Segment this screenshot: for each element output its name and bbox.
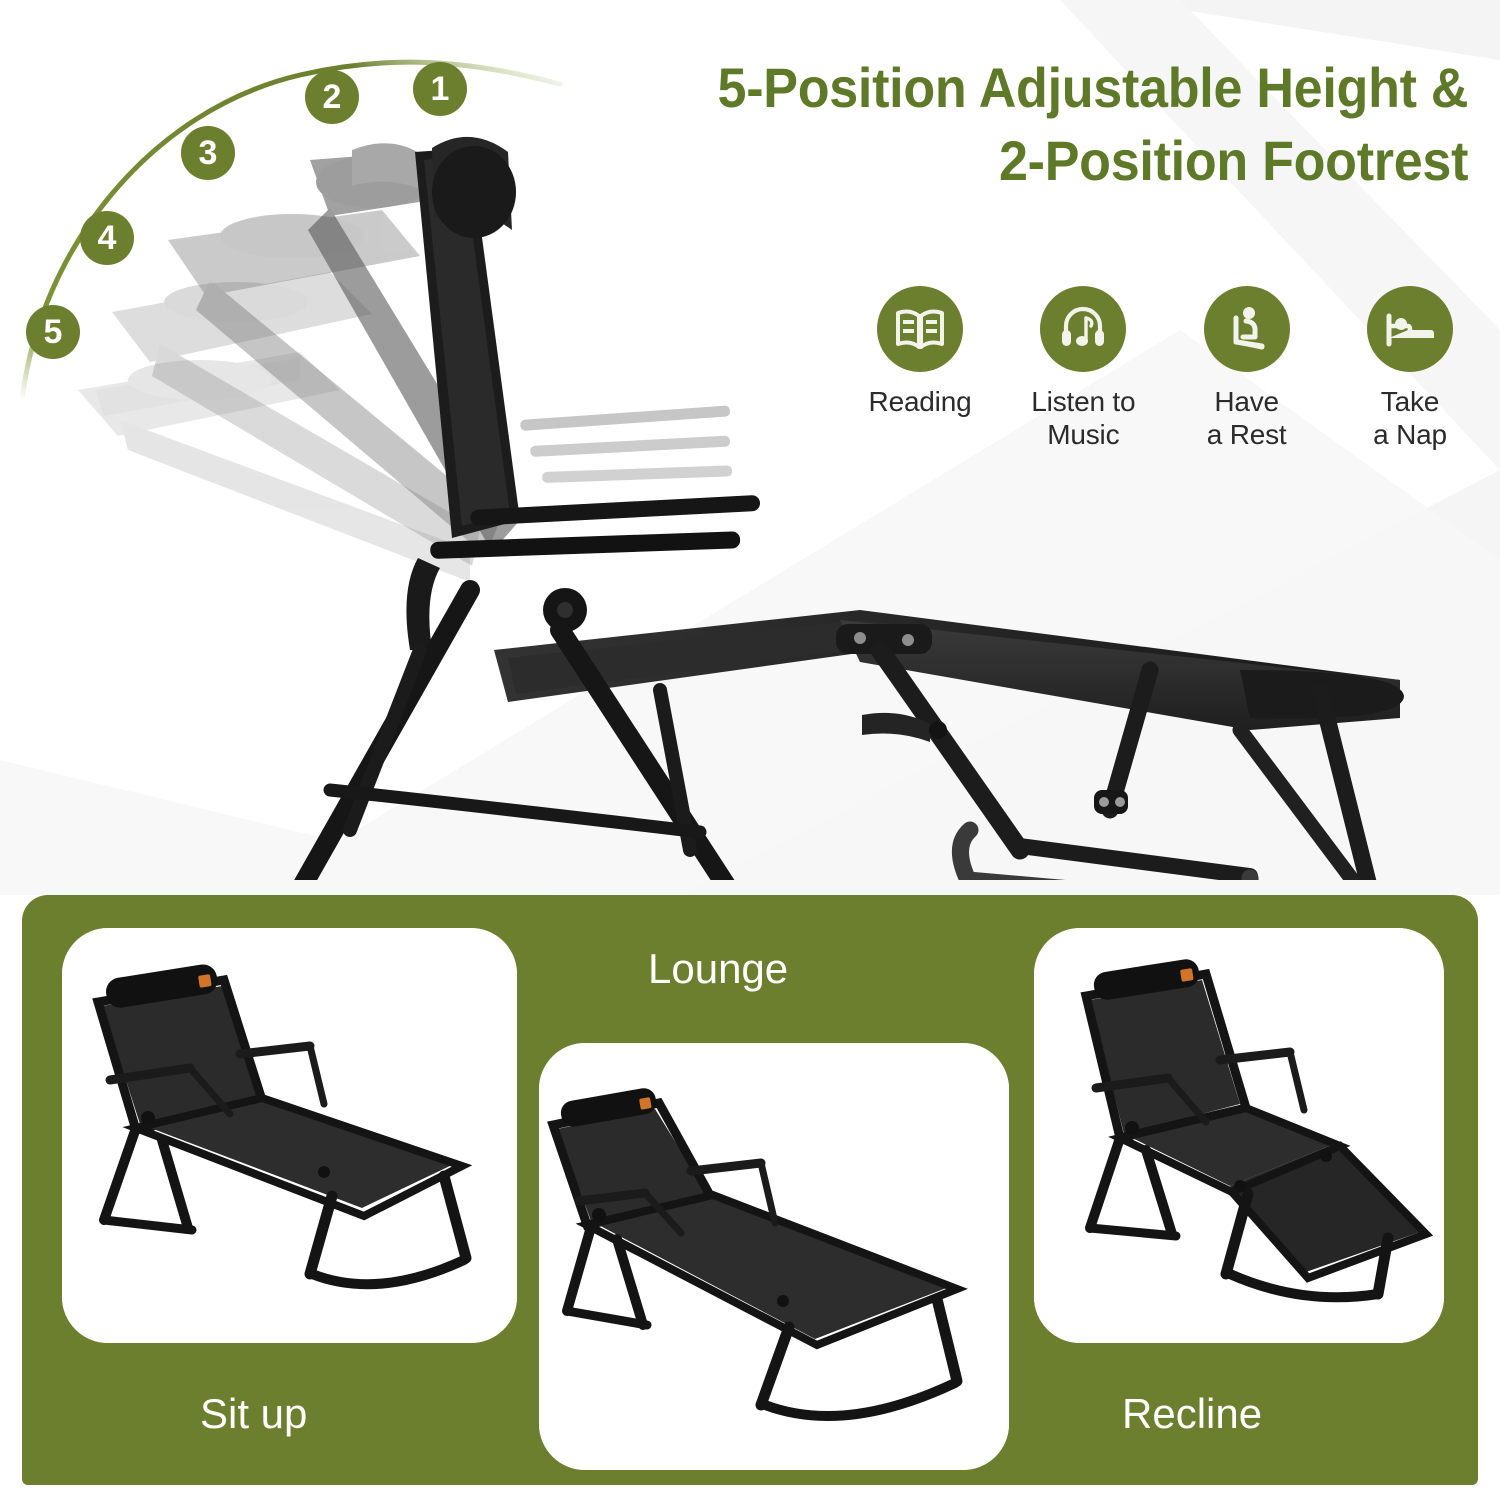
chair-image-lounge bbox=[539, 1043, 1009, 1470]
ghost-armrest-slats bbox=[520, 405, 732, 483]
feature-have-a-rest-label: Have a Rest bbox=[1207, 385, 1287, 451]
person-reclining-icon bbox=[1204, 286, 1290, 372]
feature-have-a-rest: Have a Rest bbox=[1172, 286, 1322, 451]
feature-take-a-nap-label: Take a Nap bbox=[1373, 385, 1447, 451]
feature-icon-row: Reading Listen to Music bbox=[845, 286, 1485, 486]
headphones-music-note-icon bbox=[1040, 286, 1126, 372]
mode-label-lounge: Lounge bbox=[648, 945, 788, 993]
feature-reading-label-line1: Reading bbox=[869, 386, 972, 417]
feature-music-label-line2: Music bbox=[1047, 419, 1119, 450]
feature-take-a-nap: Take a Nap bbox=[1335, 286, 1485, 451]
mode-label-sit-up: Sit up bbox=[200, 1390, 307, 1438]
page-title-line-2: 2-Position Footrest bbox=[717, 125, 1468, 198]
page-title: 5-Position Adjustable Height & 2-Positio… bbox=[717, 52, 1468, 198]
feature-reading: Reading bbox=[845, 286, 995, 418]
open-book-icon bbox=[877, 286, 963, 372]
mode-label-recline: Recline bbox=[1122, 1390, 1262, 1438]
page-title-line-1: 5-Position Adjustable Height & bbox=[717, 52, 1468, 125]
feature-nap-label-line2: a Nap bbox=[1373, 419, 1447, 450]
mode-card-recline bbox=[1034, 928, 1444, 1343]
feature-rest-label-line1: Have bbox=[1214, 386, 1279, 417]
feature-listen-to-music-label: Listen to Music bbox=[1031, 385, 1135, 451]
hero-section: 1 2 3 4 5 bbox=[0, 0, 1500, 895]
feature-listen-to-music: Listen to Music bbox=[1008, 286, 1158, 451]
feature-nap-label-line1: Take bbox=[1381, 386, 1439, 417]
mode-card-sit-up bbox=[62, 928, 517, 1343]
chair-image-sit-up bbox=[62, 928, 517, 1343]
feature-reading-label: Reading bbox=[869, 385, 972, 418]
feature-rest-label-line2: a Rest bbox=[1207, 419, 1287, 450]
chair-seat-mesh bbox=[494, 610, 1404, 730]
feature-music-label-line1: Listen to bbox=[1031, 386, 1135, 417]
chair-image-recline bbox=[1034, 928, 1444, 1343]
person-in-bed-icon bbox=[1367, 286, 1453, 372]
mode-card-lounge bbox=[539, 1043, 1009, 1470]
